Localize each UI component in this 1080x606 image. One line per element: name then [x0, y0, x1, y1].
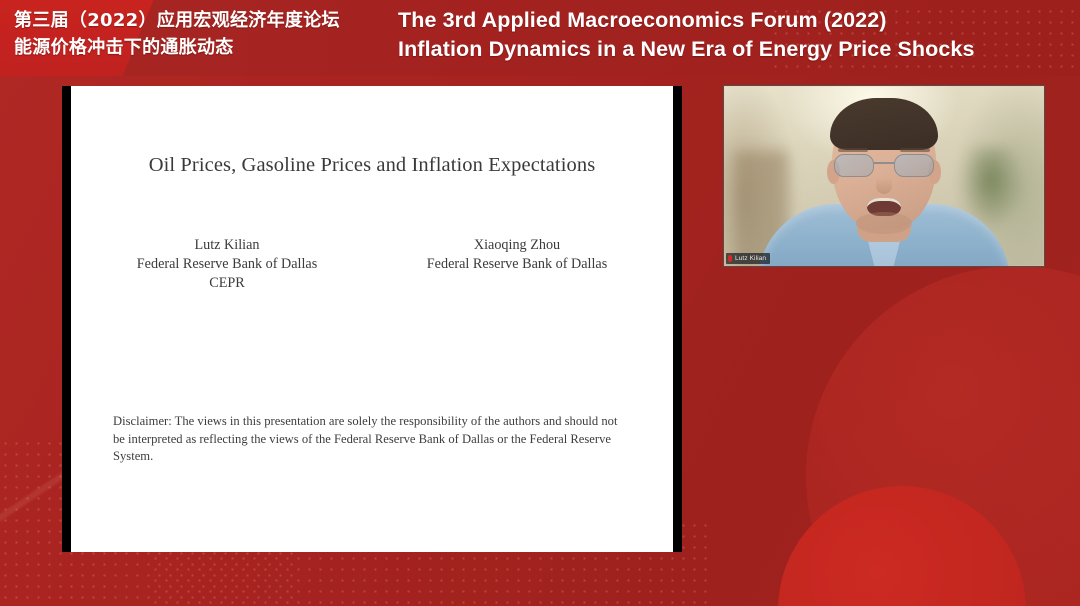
header-title-english-line2: Inflation Dynamics in a New Era of Energ… — [398, 35, 1074, 64]
slide-title: Oil Prices, Gasoline Prices and Inflatio… — [71, 154, 673, 177]
event-header-banner: 第三届（2022）应用宏观经济年度论坛 能源价格冲击下的通胀动态 The 3rd… — [0, 0, 1080, 76]
slide-letterbox-left — [62, 86, 71, 552]
speaker-video-tile[interactable]: Lutz Kilian — [723, 85, 1045, 267]
header-title-english-line1: The 3rd Applied Macroeconomics Forum (20… — [398, 6, 1074, 35]
shared-slide-container[interactable]: Oil Prices, Gasoline Prices and Inflatio… — [62, 86, 682, 552]
author-affiliation-primary: Federal Reserve Bank of Dallas — [383, 255, 651, 274]
slide-author-block: Lutz Kilian Federal Reserve Bank of Dall… — [93, 236, 651, 293]
participant-name-label: Lutz Kilian — [735, 255, 766, 262]
slide-letterbox-right — [673, 86, 682, 552]
header-title-chinese-line2: 能源价格冲击下的通胀动态 — [14, 34, 404, 61]
presentation-stage: 第三届（2022）应用宏观经济年度论坛 能源价格冲击下的通胀动态 The 3rd… — [0, 0, 1080, 606]
microphone-icon — [728, 255, 732, 262]
author-name: Xiaoqing Zhou — [383, 236, 651, 255]
speaker-chin — [856, 212, 912, 234]
slide-page: Oil Prices, Gasoline Prices and Inflatio… — [71, 86, 673, 552]
speaker-nose — [876, 174, 892, 194]
slide-disclaimer: Disclaimer: The views in this presentati… — [113, 413, 623, 466]
author-entry: Lutz Kilian Federal Reserve Bank of Dall… — [93, 236, 361, 293]
speaker-eyebrow-left — [838, 148, 868, 152]
header-title-chinese-line1: 第三届（2022）应用宏观经济年度论坛 — [14, 7, 404, 34]
author-affiliation-primary: Federal Reserve Bank of Dallas — [93, 255, 361, 274]
glasses-bridge — [874, 162, 894, 164]
speaker-eyebrow-right — [900, 148, 930, 152]
header-title-chinese: 第三届（2022）应用宏观经济年度论坛 能源价格冲击下的通胀动态 — [14, 7, 404, 61]
author-name: Lutz Kilian — [93, 236, 361, 255]
participant-name-badge: Lutz Kilian — [726, 253, 770, 264]
glasses-lens-left — [834, 154, 874, 177]
author-entry: Xiaoqing Zhou Federal Reserve Bank of Da… — [383, 236, 651, 293]
glasses-lens-right — [894, 154, 934, 177]
author-affiliation-secondary: CEPR — [93, 274, 361, 293]
header-title-english: The 3rd Applied Macroeconomics Forum (20… — [398, 6, 1074, 64]
